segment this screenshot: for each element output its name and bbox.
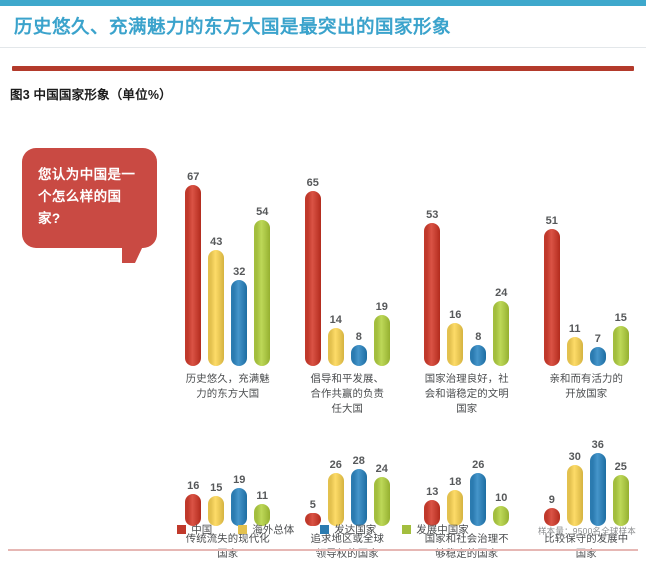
chart-row-1: 67433254历史悠久，充满魅 力的东方大国6514819倡导和平发展、 合作…	[168, 158, 646, 417]
legend-item[interactable]: 海外总体	[238, 522, 294, 537]
chart-group: 67433254历史悠久，充满魅 力的东方大国	[168, 158, 288, 417]
chart-group: 5316824国家治理良好，社 会和谐稳定的文明 国家	[407, 158, 527, 417]
bar-value-label: 11	[569, 324, 581, 335]
bar-slot: 67	[185, 172, 201, 366]
legend-swatch-icon	[320, 525, 329, 534]
chart-group-label: 倡导和平发展、 合作共赢的负责 任大国	[292, 373, 404, 417]
bar	[351, 469, 367, 526]
headline-divider	[0, 47, 646, 48]
chart-group-label: 历史悠久，充满魅 力的东方大国	[172, 373, 284, 403]
bar	[328, 328, 344, 366]
bar-slot: 28	[351, 456, 367, 526]
bar-value-label: 15	[210, 483, 222, 494]
bar-slot: 15	[208, 483, 224, 527]
bar-slot: 25	[613, 462, 629, 526]
bar-value-label: 53	[426, 210, 438, 221]
legend-label: 海外总体	[252, 522, 294, 537]
bar	[470, 473, 486, 526]
chart-group-bars: 5111715	[531, 158, 643, 366]
bar-value-label: 9	[549, 495, 555, 506]
headline-band: 历史悠久、充满魅力的东方大国是最突出的国家形象	[0, 6, 646, 47]
bar-value-label: 67	[187, 172, 199, 183]
bar-value-label: 32	[233, 267, 245, 278]
chart-group-bars: 9303625	[531, 435, 643, 526]
chart-group: 13182610国家和社会治理不 够稳定的国家	[407, 435, 527, 563]
chart-group-bars: 67433254	[172, 158, 284, 366]
bar-value-label: 16	[449, 310, 461, 321]
legend-item[interactable]: 发达国家	[320, 522, 376, 537]
bar-chart: 67433254历史悠久，充满魅 力的东方大国6514819倡导和平发展、 合作…	[168, 158, 646, 563]
bar-slot: 8	[470, 332, 486, 367]
bar-value-label: 15	[615, 313, 627, 324]
question-callout: 您认为中国是一个怎么样的国家?	[22, 148, 157, 248]
bar	[208, 250, 224, 366]
bar-value-label: 24	[376, 464, 388, 475]
bar-value-label: 30	[569, 452, 581, 463]
legend-label: 发达国家	[334, 522, 376, 537]
bar-value-label: 28	[353, 456, 365, 467]
bar-value-label: 8	[356, 332, 362, 343]
chart-group-bars: 6514819	[292, 158, 404, 366]
bar-slot: 36	[590, 440, 606, 527]
bar	[374, 477, 390, 526]
bar	[544, 229, 560, 367]
page-headline: 历史悠久、充满魅力的东方大国是最突出的国家形象	[14, 16, 632, 38]
legend-item[interactable]: 发展中国家	[402, 522, 469, 537]
bar-value-label: 54	[256, 207, 268, 218]
bar-value-label: 14	[330, 315, 342, 326]
bar-value-label: 51	[546, 216, 558, 227]
bar-slot: 14	[328, 315, 344, 366]
bar-value-label: 11	[256, 491, 268, 502]
chart-group: 16151911传统流失的现代化 国家	[168, 435, 288, 563]
chart-group-label: 国家治理良好，社 会和谐稳定的文明 国家	[411, 373, 523, 417]
bar-value-label: 43	[210, 237, 222, 248]
chart-group-bars: 16151911	[172, 435, 284, 526]
bar-value-label: 8	[475, 332, 481, 343]
bar	[424, 223, 440, 366]
bar-value-label: 5	[310, 500, 316, 511]
bar-slot: 53	[424, 210, 440, 366]
bar-slot: 43	[208, 237, 224, 366]
bar	[231, 488, 247, 527]
bar-value-label: 13	[426, 487, 438, 498]
bar	[613, 326, 629, 367]
bar-value-label: 36	[592, 440, 604, 451]
bar	[305, 191, 321, 367]
figure-card: 图3 中国国家形象（单位%） 您认为中国是一个怎么样的国家? 67433254历…	[0, 66, 646, 559]
bar	[374, 315, 390, 366]
legend-swatch-icon	[177, 525, 186, 534]
bar-slot: 18	[447, 477, 463, 527]
question-callout-text: 您认为中国是一个怎么样的国家?	[22, 148, 157, 248]
bar-slot: 11	[254, 491, 270, 527]
bar-slot: 54	[254, 207, 270, 366]
bar-slot: 19	[231, 475, 247, 527]
bar-slot: 13	[424, 487, 440, 527]
chart-row-2: 16151911传统流失的现代化 国家5262824追求地区或全球 领导权的国家…	[168, 435, 646, 563]
bar-value-label: 10	[495, 493, 507, 504]
bar-value-label: 19	[233, 475, 245, 486]
chart-group: 6514819倡导和平发展、 合作共赢的负责 任大国	[288, 158, 408, 417]
bar	[613, 475, 629, 526]
bar	[328, 473, 344, 526]
bar-slot: 16	[447, 310, 463, 366]
legend-label: 发展中国家	[416, 522, 469, 537]
bar-slot: 26	[328, 460, 344, 526]
bar	[351, 345, 367, 367]
bar-value-label: 65	[307, 178, 319, 189]
bar-slot: 11	[567, 324, 583, 367]
chart-group-bars: 5262824	[292, 435, 404, 526]
bar	[254, 220, 270, 366]
bar-value-label: 7	[595, 334, 601, 345]
legend-item[interactable]: 中国	[177, 522, 212, 537]
legend-swatch-icon	[402, 525, 411, 534]
bar-value-label: 26	[330, 460, 342, 471]
chart-group: 9303625比较保守的发展中 国家	[527, 435, 646, 563]
callout-tail	[122, 246, 143, 263]
bar	[493, 301, 509, 366]
bar-slot: 8	[351, 332, 367, 367]
bar-slot: 30	[567, 452, 583, 527]
chart-group-label: 亲和而有活力的 开放国家	[531, 373, 643, 403]
bar-slot: 26	[470, 460, 486, 526]
chart-group: 5262824追求地区或全球 领导权的国家	[288, 435, 408, 563]
chart-group: 5111715亲和而有活力的 开放国家	[527, 158, 646, 417]
bar-slot: 32	[231, 267, 247, 366]
legend-swatch-icon	[238, 525, 247, 534]
bar	[590, 453, 606, 527]
legend-label: 中国	[191, 522, 212, 537]
bar-slot: 65	[305, 178, 321, 367]
bar-slot: 15	[613, 313, 629, 367]
figure-top-rule	[12, 66, 634, 71]
bar-value-label: 25	[615, 462, 627, 473]
chart-group-bars: 5316824	[411, 158, 523, 366]
bar	[590, 347, 606, 366]
bar-value-label: 16	[187, 481, 199, 492]
bar-slot: 16	[185, 481, 201, 527]
bar	[185, 185, 201, 366]
bar-slot: 7	[590, 334, 606, 366]
bar	[447, 323, 463, 366]
figure-bottom-rule	[8, 549, 638, 551]
bar-slot: 51	[544, 216, 560, 367]
figure-title: 图3 中国国家形象（单位%）	[10, 84, 646, 103]
bar-value-label: 26	[472, 460, 484, 471]
bar	[447, 490, 463, 527]
bar	[567, 337, 583, 367]
bar	[567, 465, 583, 527]
bar-slot: 24	[374, 464, 390, 526]
bar	[231, 280, 247, 366]
chart-group-bars: 13182610	[411, 435, 523, 526]
bar	[470, 345, 486, 367]
bar-slot: 19	[374, 302, 390, 366]
bar-slot: 24	[493, 288, 509, 366]
bar-value-label: 19	[376, 302, 388, 313]
bar-value-label: 24	[495, 288, 507, 299]
sample-size-note: 样本量：9500名全球样本	[538, 525, 636, 537]
bar-value-label: 18	[449, 477, 461, 488]
